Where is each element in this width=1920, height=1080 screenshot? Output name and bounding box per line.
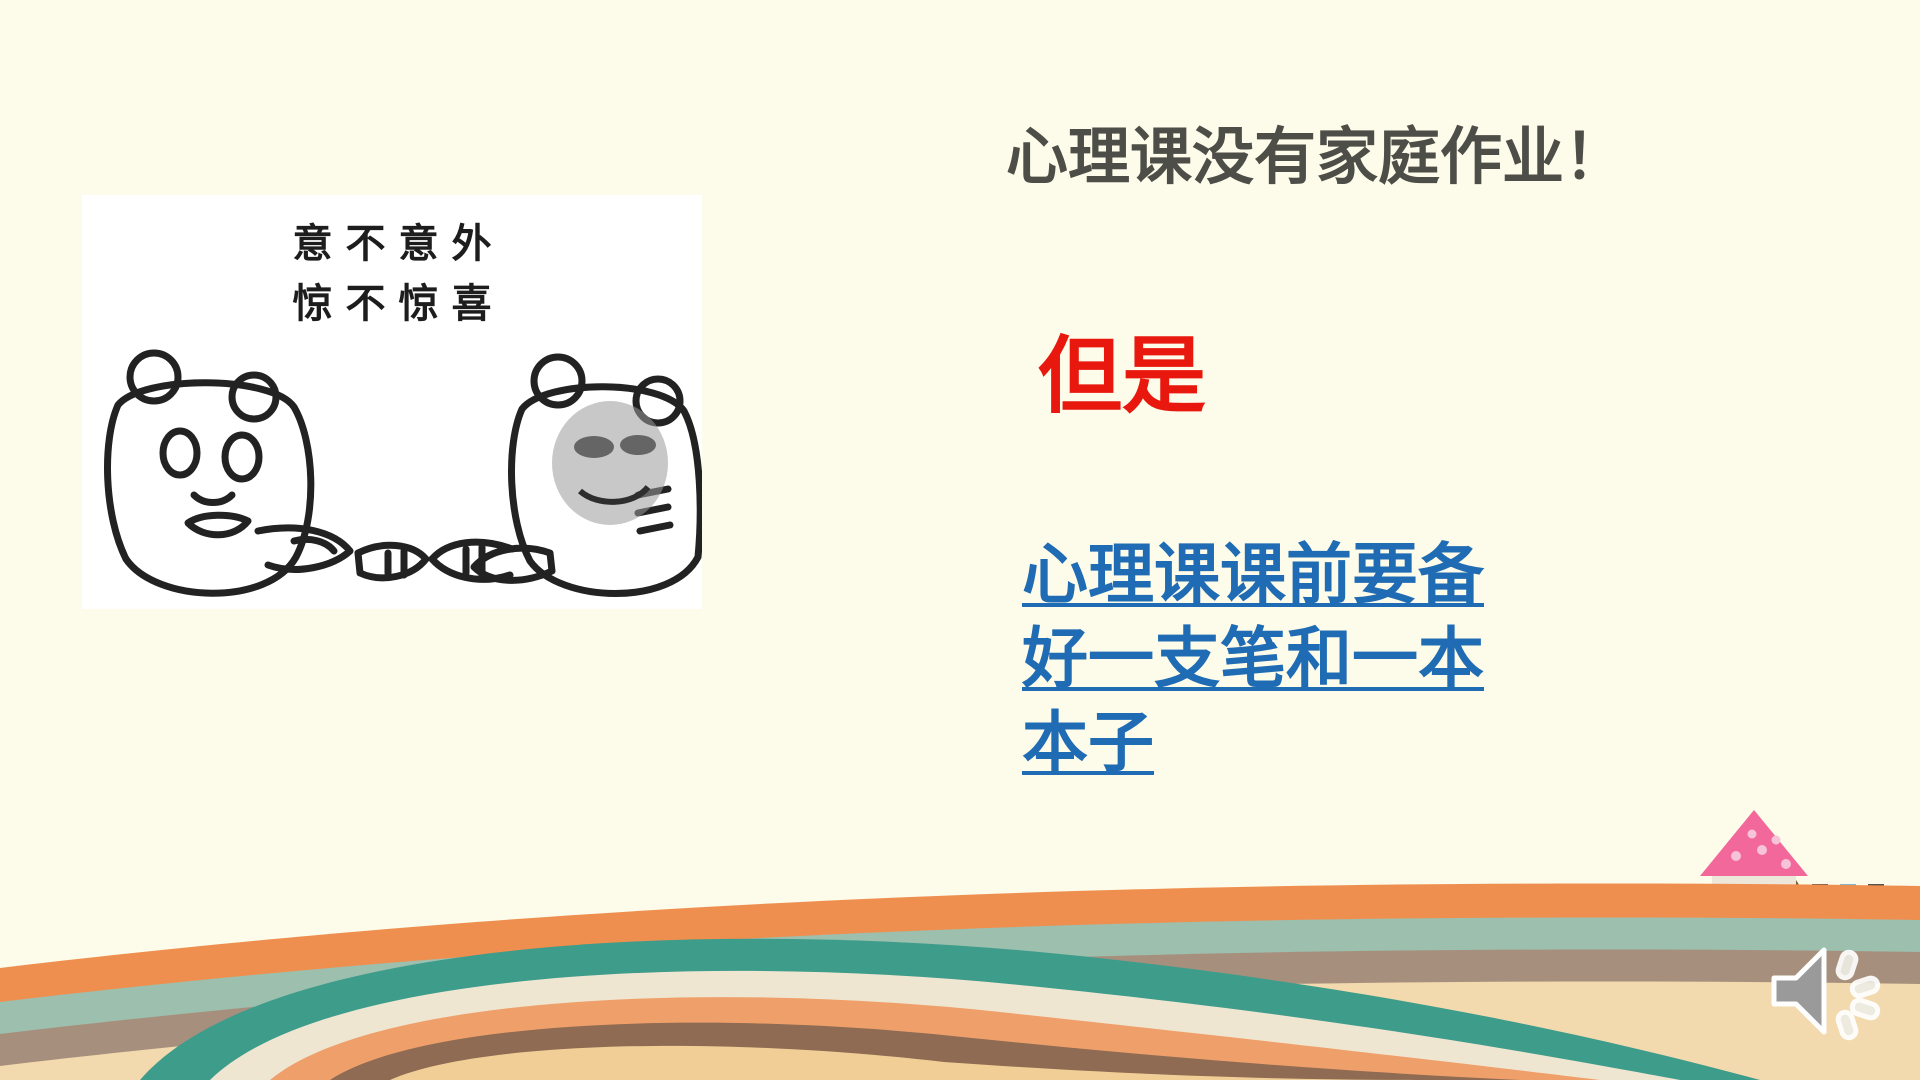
- slide-canvas: 意不意外 惊不惊喜: [0, 0, 1920, 1080]
- meme-caption-line-2: 惊不惊喜: [82, 277, 702, 332]
- meme-image[interactable]: 意不意外 惊不惊喜: [82, 195, 702, 609]
- house-red-stripe: [1528, 950, 1610, 1080]
- page-title: 心理课没有家庭作业！: [1006, 120, 1826, 194]
- instruction-link-line-2[interactable]: 好一支笔和一本: [1022, 616, 1484, 700]
- emphasis-text-but: 但是: [1038, 328, 1206, 424]
- instruction-link[interactable]: 心理课课前要备 好一支笔和一本 本子: [1022, 532, 1642, 784]
- meme-face-overlay: [552, 401, 668, 525]
- instruction-link-line-1[interactable]: 心理课课前要备: [1022, 532, 1484, 616]
- speaker-icon[interactable]: [1762, 936, 1888, 1046]
- meme-caption-line-1: 意不意外: [82, 217, 702, 272]
- instruction-link-line-3[interactable]: 本子: [1022, 700, 1154, 784]
- meme-bears-illustration: [82, 345, 702, 609]
- house-brown-stripe: [1570, 920, 1654, 1080]
